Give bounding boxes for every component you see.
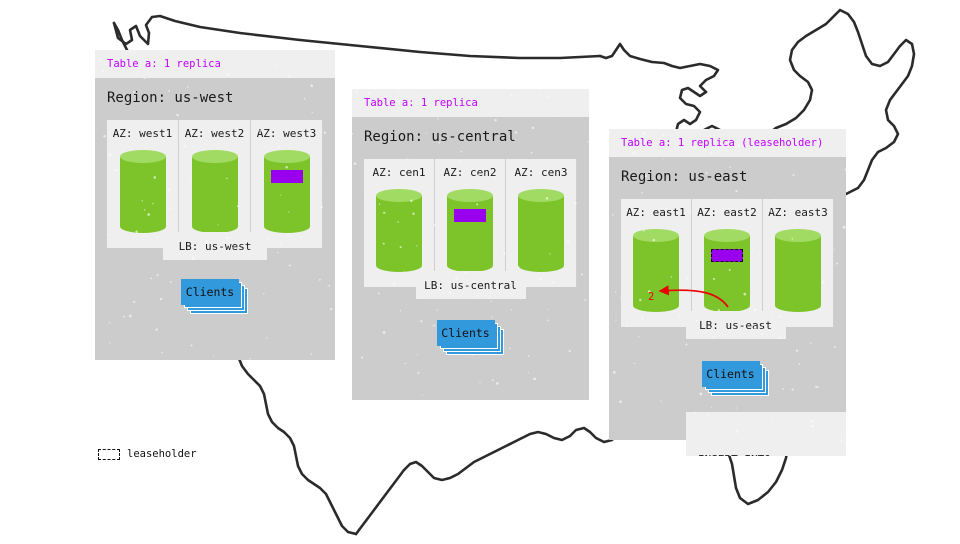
- sql-callout: INSERT INTO a VALUES (1, 2);: [686, 412, 846, 456]
- az-label: AZ: east2: [692, 206, 762, 219]
- az-label: AZ: cen2: [435, 166, 505, 179]
- replica-marker-leaseholder: [711, 249, 743, 262]
- cylinder-top-cap: [633, 229, 679, 242]
- az-cell-east3: AZ: east3: [763, 199, 834, 327]
- region-body: Region: us-eastAZ: east1AZ: east2AZ: eas…: [609, 157, 846, 440]
- az-label: AZ: west2: [179, 127, 250, 140]
- region-replica-header: Table a: 1 replica: [95, 50, 335, 78]
- cylinder-body: [704, 236, 750, 306]
- db-node-cylinder: [704, 229, 750, 312]
- load-balancer-label: LB: us-central: [424, 279, 517, 292]
- cylinder-body: [264, 157, 310, 227]
- db-node-cylinder: [518, 189, 564, 272]
- legend: leaseholder: [98, 448, 197, 460]
- cylinder-body: [447, 196, 493, 266]
- load-balancer-label: LB: us-east: [699, 319, 772, 332]
- region-title: Region: us-west: [107, 90, 233, 106]
- az-cell-east1: AZ: east1: [621, 199, 692, 327]
- clients-button-label: Clients: [706, 367, 754, 381]
- region-replica-header-label: Table a: 1 replica: [107, 58, 221, 70]
- db-node-cylinder: [376, 189, 422, 272]
- clients-button[interactable]: Clients: [181, 279, 249, 315]
- region-body: Region: us-centralAZ: cen1AZ: cen2AZ: ce…: [352, 117, 589, 400]
- az-cell-cen3: AZ: cen3: [506, 159, 577, 287]
- region-replica-header-label: Table a: 1 replica: [364, 97, 478, 109]
- db-node-cylinder: [264, 150, 310, 233]
- cylinder-top-cap: [192, 150, 238, 163]
- cylinder-top-cap: [518, 189, 564, 202]
- region-replica-header: Table a: 1 replica (leaseholder): [609, 129, 846, 157]
- cylinder-body: [518, 196, 564, 266]
- region-replica-header: Table a: 1 replica: [352, 89, 589, 117]
- az-cell-west1: AZ: west1: [107, 120, 179, 248]
- clients-button-face[interactable]: Clients: [437, 320, 495, 346]
- cylinder-body: [376, 196, 422, 266]
- az-cell-cen1: AZ: cen1: [364, 159, 435, 287]
- region-title: Region: us-central: [364, 129, 516, 145]
- load-balancer-us-central[interactable]: LB: us-central: [416, 271, 526, 299]
- az-label: AZ: east3: [763, 206, 833, 219]
- db-node-cylinder: [192, 150, 238, 233]
- cylinder-top-cap: [775, 229, 821, 242]
- cylinder-top-cap: [704, 229, 750, 242]
- load-balancer-label: LB: us-west: [179, 240, 252, 253]
- cylinder-top-cap: [376, 189, 422, 202]
- az-label: AZ: cen1: [364, 166, 434, 179]
- cylinder-top-cap: [120, 150, 166, 163]
- load-balancer-us-west[interactable]: LB: us-west: [163, 232, 267, 260]
- legend-label: leaseholder: [127, 448, 197, 460]
- az-container: AZ: west1AZ: west2AZ: west3: [107, 120, 323, 248]
- clients-button-label: Clients: [186, 285, 234, 299]
- arrow-step-label: 2: [648, 291, 654, 303]
- sql-line-1: INSERT INTO a: [698, 452, 834, 456]
- cylinder-body: [120, 157, 166, 227]
- az-label: AZ: cen3: [506, 166, 576, 179]
- clients-button[interactable]: Clients: [437, 320, 505, 356]
- clients-button-face[interactable]: Clients: [702, 361, 760, 387]
- az-container: AZ: cen1AZ: cen2AZ: cen3: [364, 159, 577, 287]
- db-node-cylinder: [120, 150, 166, 233]
- replica-marker: [271, 170, 303, 183]
- cylinder-body: [775, 236, 821, 306]
- region-title: Region: us-east: [621, 169, 747, 185]
- cylinder-body: [633, 236, 679, 306]
- load-balancer-us-east[interactable]: LB: us-east: [686, 311, 786, 339]
- az-cell-west2: AZ: west2: [179, 120, 251, 248]
- diagram-canvas: Table a: 1 replicaRegion: us-westAZ: wes…: [0, 0, 960, 540]
- az-cell-east2: AZ: east2: [692, 199, 763, 327]
- noise-texture: [686, 412, 846, 456]
- db-node-cylinder: [447, 189, 493, 272]
- az-container: AZ: east1AZ: east2AZ: east3: [621, 199, 834, 327]
- cylinder-top-cap: [447, 189, 493, 202]
- dashed-rectangle-icon: [98, 449, 120, 460]
- az-label: AZ: west1: [107, 127, 178, 140]
- clients-button-label: Clients: [441, 326, 489, 340]
- az-cell-cen2: AZ: cen2: [435, 159, 506, 287]
- cylinder-top-cap: [264, 150, 310, 163]
- db-node-cylinder: [775, 229, 821, 312]
- az-cell-west3: AZ: west3: [251, 120, 323, 248]
- az-label: AZ: west3: [251, 127, 322, 140]
- region-body: Region: us-westAZ: west1AZ: west2AZ: wes…: [95, 78, 335, 360]
- region-replica-header-label: Table a: 1 replica (leaseholder): [621, 137, 823, 149]
- clients-button-face[interactable]: Clients: [181, 279, 239, 305]
- replica-marker: [454, 209, 486, 222]
- clients-button[interactable]: Clients: [702, 361, 770, 397]
- az-label: AZ: east1: [621, 206, 691, 219]
- cylinder-body: [192, 157, 238, 227]
- db-node-cylinder: [633, 229, 679, 312]
